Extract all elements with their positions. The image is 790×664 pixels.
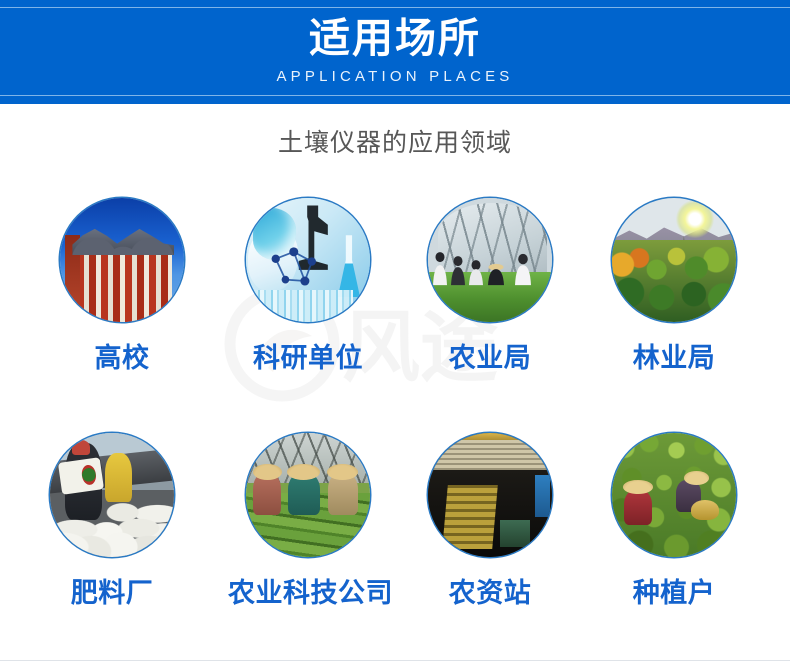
place-thumbnail[interactable] [246, 198, 370, 322]
place-label: 农业科技公司 [228, 577, 388, 609]
place-card-research-institute[interactable]: 科研单位 [228, 198, 388, 374]
section-heading: 土壤仪器的应用领域 [0, 126, 790, 160]
straw-hat-icon [253, 464, 282, 480]
place-label: 林业局 [594, 342, 754, 374]
inspectors-group [428, 245, 552, 287]
roller-shutter [428, 440, 552, 472]
place-label: 农资站 [410, 577, 570, 609]
straw-hat-icon [623, 480, 653, 494]
places-grid: 高校 [0, 198, 790, 664]
fertilizer-sacks-photo [50, 433, 174, 557]
place-label: 高校 [42, 342, 202, 374]
straw-hat-icon [327, 464, 358, 480]
farmer-figure [624, 490, 651, 525]
banner-title: 适用场所 [0, 13, 790, 63]
crate [500, 520, 530, 547]
greenhouse-field-inspection-photo [428, 198, 552, 322]
sun-glow [676, 200, 713, 237]
place-thumbnail[interactable] [50, 433, 174, 557]
place-thumbnail[interactable] [612, 198, 736, 322]
autumn-forest-photo [612, 198, 736, 322]
place-thumbnail[interactable] [428, 433, 552, 557]
places-row: 肥料厂 农业科技公司 [0, 433, 790, 664]
place-thumbnail[interactable] [428, 198, 552, 322]
university-building-photo [60, 198, 184, 322]
application-places-page: 适用场所 APPLICATION PLACES 土壤仪器的应用领域 风途 高校 [0, 0, 790, 664]
harvest-basket [691, 500, 718, 520]
place-thumbnail[interactable] [246, 433, 370, 557]
stacked-goods [443, 485, 498, 549]
shop-sign [535, 475, 550, 517]
autumn-canopy [612, 240, 736, 322]
seedling-greenhouse-workers-photo [246, 433, 370, 557]
place-label: 肥料厂 [32, 577, 192, 609]
banner-top-divider [0, 7, 790, 8]
page-banner: 适用场所 APPLICATION PLACES [0, 0, 790, 104]
place-thumbnail[interactable] [60, 198, 184, 322]
place-card-forestry-bureau[interactable]: 林业局 [594, 198, 754, 374]
facade-wing [65, 235, 80, 322]
banner-subtitle: APPLICATION PLACES [0, 67, 790, 87]
sack-pile [50, 485, 174, 557]
place-label: 科研单位 [228, 342, 388, 374]
crop-field-harvest-photo [612, 433, 736, 557]
straw-hat-icon [684, 471, 709, 485]
place-card-fertilizer-plant[interactable]: 肥料厂 [32, 433, 192, 609]
worker-cap [72, 440, 89, 455]
agricultural-supply-shop-photo [428, 433, 552, 557]
place-label: 农业局 [410, 342, 570, 374]
molecule-icon [266, 240, 335, 297]
flask-icon [338, 235, 360, 297]
place-card-university[interactable]: 高校 [42, 198, 202, 374]
banner-bottom-divider [0, 95, 790, 96]
footer-divider [0, 660, 790, 661]
place-card-agri-supply-station[interactable]: 农资站 [410, 433, 570, 609]
place-card-growers[interactable]: 种植户 [594, 433, 754, 609]
place-card-agritech-company[interactable]: 农业科技公司 [228, 433, 388, 609]
place-card-agriculture-bureau[interactable]: 农业局 [410, 198, 570, 374]
laboratory-research-photo [246, 198, 370, 322]
place-label: 种植户 [594, 577, 754, 609]
places-row: 高校 [0, 198, 790, 433]
place-thumbnail[interactable] [612, 433, 736, 557]
